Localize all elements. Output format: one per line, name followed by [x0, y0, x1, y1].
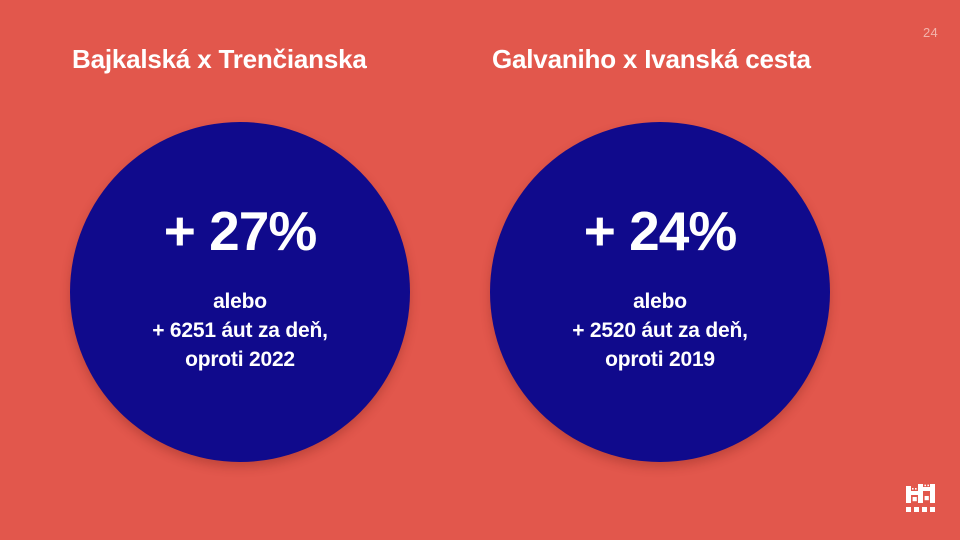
stat-detail-left-line-1: alebo — [152, 287, 328, 316]
stat-detail-right-line-2: + 2520 áut za deň, — [572, 316, 748, 345]
stat-detail-right-line-1: alebo — [572, 287, 748, 316]
panel-title-left: Bajkalská x Trenčianska — [72, 45, 472, 75]
stat-detail-left: alebo + 6251 áut za deň, oproti 2022 — [152, 287, 328, 374]
stat-panel-right: Galvaniho x Ivanská cesta + 24% alebo + … — [472, 0, 892, 540]
stat-panel-left: Bajkalská x Trenčianska + 27% alebo + 62… — [52, 0, 472, 540]
stat-detail-right: alebo + 2520 áut za deň, oproti 2019 — [572, 287, 748, 374]
stat-percent-right: + 24% — [584, 204, 736, 259]
stat-detail-left-line-2: + 6251 áut za deň, — [152, 316, 328, 345]
stat-detail-right-line-3: oproti 2019 — [572, 345, 748, 374]
panel-title-right: Galvaniho x Ivanská cesta — [492, 45, 892, 75]
stat-detail-left-line-3: oproti 2022 — [152, 345, 328, 374]
bridge-block-logo-icon — [906, 484, 938, 513]
stat-percent-left: + 27% — [164, 204, 316, 259]
stat-bubble-left: + 27% alebo + 6251 áut za deň, oproti 20… — [70, 122, 410, 462]
stat-bubble-right: + 24% alebo + 2520 áut za deň, oproti 20… — [490, 122, 830, 462]
slide-canvas: 24 Bajkalská x Trenčianska + 27% alebo +… — [0, 0, 960, 540]
page-number: 24 — [923, 26, 938, 39]
